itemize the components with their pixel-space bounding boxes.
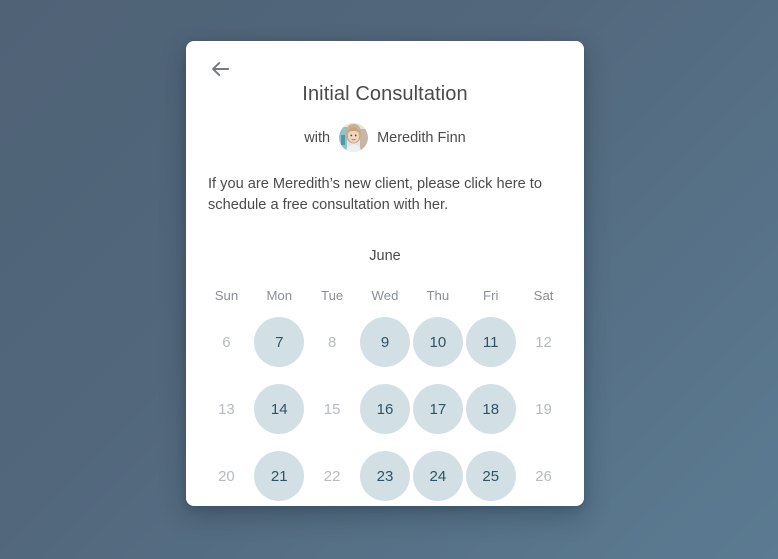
calendar-day-disabled: 20: [201, 451, 251, 501]
page-title: Initial Consultation: [186, 41, 584, 106]
weekday-mon: Mon: [253, 288, 306, 303]
calendar-week-row: 13141516171819: [200, 381, 570, 437]
calendar-date-cell: 21: [253, 448, 306, 504]
calendar-date-cell: 13: [200, 381, 253, 437]
calendar-weeks: 67891011121314151617181920212223242526: [200, 314, 570, 504]
calendar-date-cell: 9: [359, 314, 412, 370]
calendar-date-cell: 23: [359, 448, 412, 504]
back-button[interactable]: [200, 50, 240, 88]
calendar-day-available[interactable]: 9: [360, 317, 410, 367]
calendar-date-cell: 7: [253, 314, 306, 370]
calendar-day-available[interactable]: 18: [466, 384, 516, 434]
calendar-date-cell: 18: [464, 381, 517, 437]
calendar-date-cell: 17: [411, 381, 464, 437]
with-label: with: [304, 130, 330, 146]
calendar-week-row: 20212223242526: [200, 448, 570, 504]
calendar-day-disabled: 8: [307, 317, 357, 367]
avatar: [339, 123, 368, 152]
calendar-weekday-row: Sun Mon Tue Wed Thu Fri Sat: [200, 288, 570, 303]
arrow-left-icon: [210, 61, 230, 77]
host-row: with: [186, 123, 584, 152]
calendar-day-available[interactable]: 17: [413, 384, 463, 434]
calendar-week-row: 6789101112: [200, 314, 570, 370]
calendar-date-cell: 16: [359, 381, 412, 437]
calendar-day-disabled: 26: [519, 451, 569, 501]
calendar-day-available[interactable]: 10: [413, 317, 463, 367]
calendar-day-disabled: 15: [307, 384, 357, 434]
calendar-month-label: June: [200, 248, 570, 264]
calendar-date-cell: 10: [411, 314, 464, 370]
scheduler-card: Initial Consultation with: [186, 41, 584, 506]
calendar-day-available[interactable]: 25: [466, 451, 516, 501]
calendar-day-disabled: 6: [201, 317, 251, 367]
calendar-day-disabled: 19: [519, 384, 569, 434]
calendar-day-disabled: 12: [519, 317, 569, 367]
host-name: Meredith Finn: [377, 130, 466, 146]
calendar-day-available[interactable]: 14: [254, 384, 304, 434]
weekday-tue: Tue: [306, 288, 359, 303]
calendar-day-available[interactable]: 21: [254, 451, 304, 501]
calendar-day-available[interactable]: 24: [413, 451, 463, 501]
calendar: June Sun Mon Tue Wed Thu Fri Sat 6789101…: [186, 248, 584, 504]
calendar-date-cell: 22: [306, 448, 359, 504]
weekday-thu: Thu: [411, 288, 464, 303]
weekday-sun: Sun: [200, 288, 253, 303]
calendar-date-cell: 6: [200, 314, 253, 370]
calendar-date-cell: 26: [517, 448, 570, 504]
calendar-day-available[interactable]: 11: [466, 317, 516, 367]
calendar-date-cell: 8: [306, 314, 359, 370]
calendar-date-cell: 19: [517, 381, 570, 437]
calendar-date-cell: 14: [253, 381, 306, 437]
weekday-fri: Fri: [464, 288, 517, 303]
calendar-day-available[interactable]: 7: [254, 317, 304, 367]
calendar-date-cell: 25: [464, 448, 517, 504]
calendar-date-cell: 20: [200, 448, 253, 504]
calendar-date-cell: 15: [306, 381, 359, 437]
calendar-day-disabled: 13: [201, 384, 251, 434]
calendar-day-available[interactable]: 23: [360, 451, 410, 501]
description-text: If you are Meredith’s new client, please…: [186, 152, 584, 216]
weekday-sat: Sat: [517, 288, 570, 303]
calendar-day-disabled: 22: [307, 451, 357, 501]
calendar-date-cell: 12: [517, 314, 570, 370]
calendar-date-cell: 11: [464, 314, 517, 370]
calendar-day-available[interactable]: 16: [360, 384, 410, 434]
calendar-date-cell: 24: [411, 448, 464, 504]
weekday-wed: Wed: [359, 288, 412, 303]
